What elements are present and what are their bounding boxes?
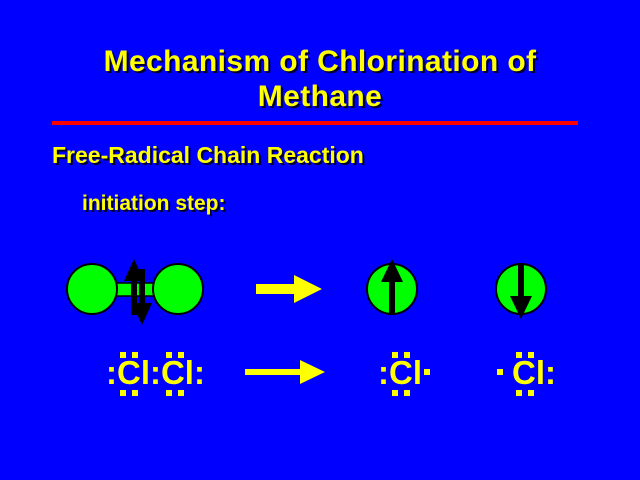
lewis-molecule-text: :Cl:Cl: xyxy=(106,354,205,391)
lewis-radical-text: Cl: xyxy=(512,354,556,391)
lone-pair-dot xyxy=(528,352,534,358)
reaction-arrow-orbital xyxy=(256,275,322,303)
orbital-equation-graphic xyxy=(0,255,640,330)
lone-pair-dot xyxy=(166,390,172,396)
lewis-equation-row: :Cl:Cl: xyxy=(0,336,640,408)
lone-pair-dot xyxy=(516,390,522,396)
chlorine-radical-orbital-up xyxy=(367,259,417,315)
orbital-circle-left xyxy=(67,264,117,314)
radical-dot xyxy=(497,369,503,375)
slide-canvas: Mechanism of Chlorination of Methane Fre… xyxy=(0,0,640,480)
chlorine-radical-lewis-right: Cl: xyxy=(497,352,556,396)
lewis-equation-graphic: :Cl:Cl: xyxy=(0,336,640,408)
lone-pair-dot xyxy=(132,390,138,396)
lone-pair-dot xyxy=(404,390,410,396)
lone-pair-dot xyxy=(392,390,398,396)
chlorine-molecule-lewis: :Cl:Cl: xyxy=(106,352,205,396)
lone-pair-dot xyxy=(178,352,184,358)
subtitle-heading: Free-Radical Chain Reaction xyxy=(52,142,364,169)
title-underline-rule xyxy=(52,121,578,125)
lone-pair-dot xyxy=(528,390,534,396)
lone-pair-dot xyxy=(120,390,126,396)
lone-pair-dot xyxy=(392,352,398,358)
page-title: Mechanism of Chlorination of Methane xyxy=(0,44,640,114)
lewis-radical-text: :Cl xyxy=(378,354,422,391)
reaction-arrow-lewis xyxy=(245,360,325,384)
chlorine-molecule-orbitals xyxy=(67,259,203,325)
orbital-circle-right xyxy=(153,264,203,314)
lone-pair-dot xyxy=(166,352,172,358)
chlorine-radical-lewis-left: :Cl xyxy=(378,352,430,396)
radical-dot xyxy=(424,369,430,375)
lone-pair-dot xyxy=(132,352,138,358)
lone-pair-dot xyxy=(120,352,126,358)
step-label: initiation step: xyxy=(82,192,226,216)
lone-pair-dot xyxy=(404,352,410,358)
lone-pair-dot xyxy=(516,352,522,358)
chlorine-radical-orbital-down xyxy=(496,263,546,319)
orbital-equation-row xyxy=(0,255,640,330)
lone-pair-dot xyxy=(178,390,184,396)
